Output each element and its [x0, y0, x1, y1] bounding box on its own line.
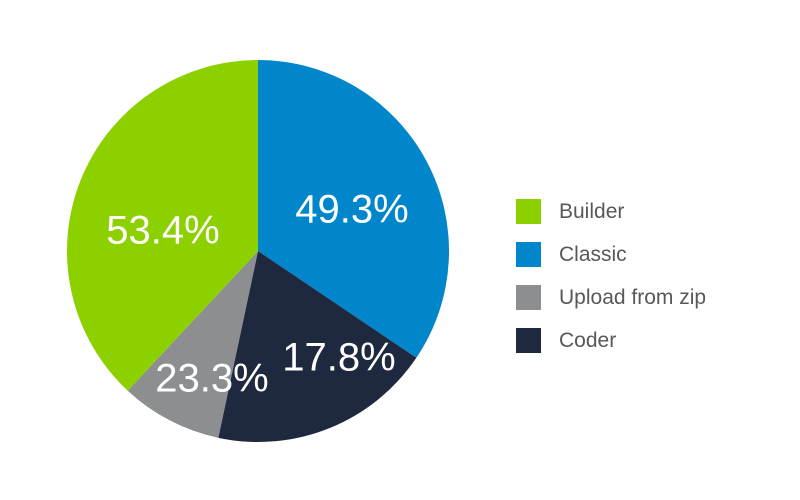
chart-legend: BuilderClassicUpload from zipCoder — [516, 190, 706, 362]
pie-slice-value-builder: 53.4% — [106, 209, 219, 253]
legend-swatch-icon-coder — [516, 328, 541, 353]
legend-swatch-icon-upload-from-zip — [516, 285, 541, 310]
legend-swatch-icon-builder — [516, 199, 541, 224]
legend-item-upload-from-zip[interactable]: Upload from zip — [516, 276, 706, 319]
pie-slice-value-coder: 17.8% — [282, 336, 395, 380]
legend-label-builder: Builder — [559, 201, 624, 222]
legend-label-classic: Classic — [559, 244, 627, 265]
legend-item-coder[interactable]: Coder — [516, 319, 706, 362]
pie-chart-figure: 49.3%17.8%23.3%53.4% BuilderClassicUploa… — [0, 0, 800, 500]
legend-item-classic[interactable]: Classic — [516, 233, 706, 276]
legend-label-upload-from-zip: Upload from zip — [559, 287, 706, 308]
legend-item-builder[interactable]: Builder — [516, 190, 706, 233]
legend-swatch-icon-classic — [516, 242, 541, 267]
pie-slice-value-classic: 49.3% — [295, 188, 408, 232]
pie-slice-value-upload-from-zip: 23.3% — [155, 357, 268, 401]
legend-label-coder: Coder — [559, 330, 616, 351]
